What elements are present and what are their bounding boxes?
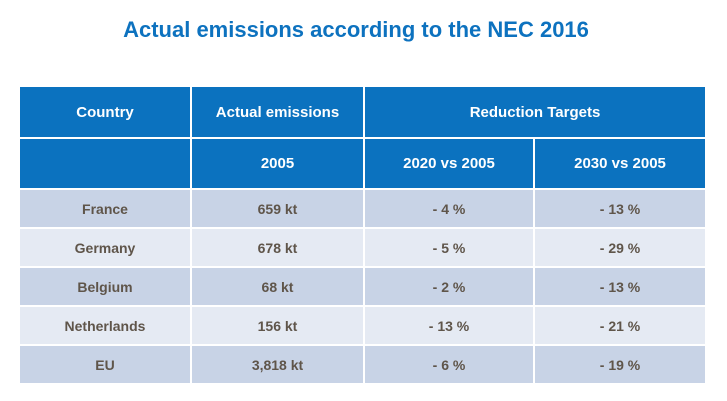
cell-country: Germany	[20, 229, 192, 268]
table-row: Germany 678 kt - 5 % - 29 %	[20, 229, 705, 268]
cell-t2030: - 21 %	[535, 307, 705, 346]
table-row: EU 3,818 kt - 6 % - 19 %	[20, 346, 705, 383]
cell-actual: 659 kt	[192, 190, 365, 229]
cell-t2030: - 29 %	[535, 229, 705, 268]
header-row-secondary: 2005 2020 vs 2005 2030 vs 2005	[20, 139, 705, 190]
header-cell-target-2030[interactable]: 2030 vs 2005	[535, 139, 705, 190]
table-body: France 659 kt - 4 % - 13 % Germany 678 k…	[20, 190, 705, 383]
cell-actual: 156 kt	[192, 307, 365, 346]
header-cell-reduction-targets[interactable]: Reduction Targets	[365, 87, 705, 139]
table-row: Belgium 68 kt - 2 % - 13 %	[20, 268, 705, 307]
cell-t2020: - 5 %	[365, 229, 535, 268]
cell-t2030: - 19 %	[535, 346, 705, 383]
page-title: Actual emissions according to the NEC 20…	[0, 17, 712, 43]
header-cell-actual-emissions[interactable]: Actual emissions	[192, 87, 365, 139]
cell-country: EU	[20, 346, 192, 383]
cell-country: Netherlands	[20, 307, 192, 346]
table-row: Netherlands 156 kt - 13 % - 21 %	[20, 307, 705, 346]
emissions-table-container: Country Actual emissions Reduction Targe…	[20, 87, 705, 383]
cell-t2020: - 13 %	[365, 307, 535, 346]
emissions-table: Country Actual emissions Reduction Targe…	[20, 87, 705, 383]
header-cell-year-2005[interactable]: 2005	[192, 139, 365, 190]
header-cell-country-sub-blank	[20, 139, 192, 190]
slide-canvas: Actual emissions according to the NEC 20…	[0, 0, 727, 401]
header-row-primary: Country Actual emissions Reduction Targe…	[20, 87, 705, 139]
cell-t2020: - 2 %	[365, 268, 535, 307]
cell-t2030: - 13 %	[535, 268, 705, 307]
cell-t2020: - 4 %	[365, 190, 535, 229]
table-header: Country Actual emissions Reduction Targe…	[20, 87, 705, 190]
cell-actual: 3,818 kt	[192, 346, 365, 383]
cell-country: France	[20, 190, 192, 229]
cell-actual: 678 kt	[192, 229, 365, 268]
cell-t2020: - 6 %	[365, 346, 535, 383]
cell-actual: 68 kt	[192, 268, 365, 307]
header-cell-country[interactable]: Country	[20, 87, 192, 139]
table-row: France 659 kt - 4 % - 13 %	[20, 190, 705, 229]
cell-country: Belgium	[20, 268, 192, 307]
cell-t2030: - 13 %	[535, 190, 705, 229]
header-cell-target-2020[interactable]: 2020 vs 2005	[365, 139, 535, 190]
